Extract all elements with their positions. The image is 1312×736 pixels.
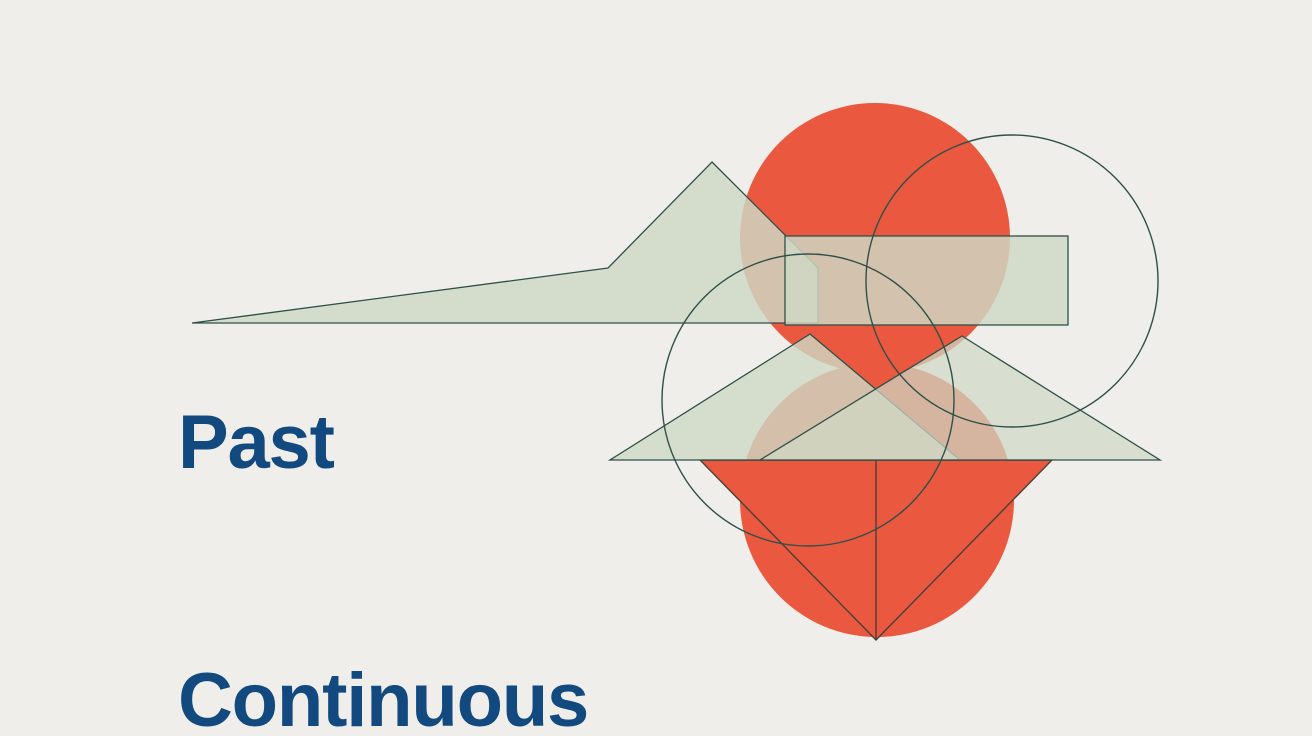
- page-title: Past Continuous Tense: [178, 228, 738, 736]
- slide-canvas: Past Continuous Tense: [0, 0, 1312, 736]
- page-title-line-1: Past: [178, 400, 738, 486]
- green-rectangle-shape: [785, 236, 1068, 325]
- page-title-line-2: Continuous: [178, 658, 738, 736]
